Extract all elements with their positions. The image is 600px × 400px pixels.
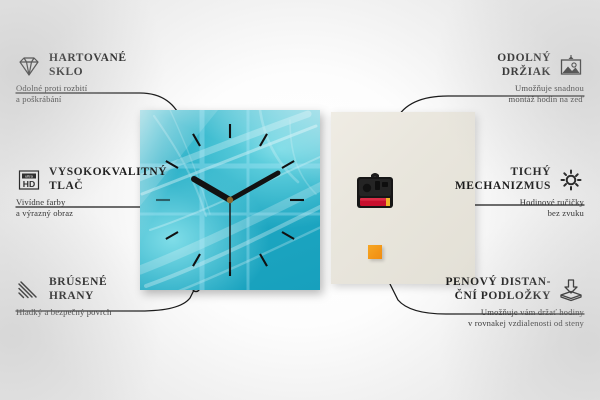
feature-title-2: ČNÍ PODLOŽKY bbox=[445, 290, 551, 304]
feature-desc: Vivídne farby bbox=[16, 197, 191, 208]
feature-brushed-edges: BRÚSENÉ HRANY Hladký a bezpečný povrch bbox=[16, 276, 196, 318]
feature-title-2: TLAČ bbox=[49, 180, 167, 194]
feature-desc-2: bez zvuku bbox=[399, 208, 584, 219]
feature-desc-2: a výrazný obraz bbox=[16, 208, 191, 219]
feature-title-2: HRANY bbox=[49, 290, 107, 304]
feature-desc-2: montáž hodin na zeď bbox=[404, 94, 584, 105]
feature-hd-print: ultra HD VYSOKOKVALITNÝ TLAČ Vivídne far… bbox=[16, 166, 191, 218]
feature-desc-2: a poškrábání bbox=[16, 94, 186, 105]
picture-frame-hanger-icon bbox=[558, 54, 584, 78]
feature-title-2: SKLO bbox=[49, 66, 127, 80]
diamond-icon bbox=[16, 54, 42, 78]
feature-title: PENOVÝ DISTAN- bbox=[445, 276, 551, 290]
feature-title: ODOLNÝ bbox=[497, 52, 551, 66]
foam-spacer-icon bbox=[558, 278, 584, 302]
clock-hands bbox=[194, 173, 278, 272]
hd-label: HD bbox=[23, 179, 35, 189]
product-infographic: HARTOVANÉ SKLO Odolné proti rozbití a po… bbox=[0, 0, 600, 400]
feature-foam-spacers: PENOVÝ DISTAN- ČNÍ PODLOŽKY Umožňuje vám… bbox=[389, 276, 584, 328]
feature-durable-holder: ODOLNÝ DRŽIAK Umožňuje snadnou montáž ho… bbox=[404, 52, 584, 104]
feature-desc: Odolné proti rozbití bbox=[16, 83, 186, 94]
feature-desc: Umožňuje vám držať hodiny bbox=[389, 307, 584, 318]
ultra-hd-icon: ultra HD bbox=[16, 168, 42, 192]
feature-title: HARTOVANÉ bbox=[49, 52, 127, 66]
feature-silent-mechanism: TICHÝ MECHANIZMUS Hodinové ručičky bez z… bbox=[399, 166, 584, 218]
feature-title: TICHÝ bbox=[455, 166, 551, 180]
feature-title: BRÚSENÉ bbox=[49, 276, 107, 290]
feature-title-2: DRŽIAK bbox=[497, 66, 551, 80]
clock-mechanism bbox=[356, 170, 394, 210]
minute-hand bbox=[230, 173, 278, 200]
foam-spacer-pad bbox=[368, 245, 382, 259]
feature-desc: Umožňuje snadnou bbox=[404, 83, 584, 94]
gear-icon bbox=[558, 168, 584, 192]
feature-desc-2: v rovnakej vzdialenosti od steny bbox=[389, 318, 584, 329]
feature-title: VYSOKOKVALITNÝ bbox=[49, 166, 167, 180]
feature-desc: Hodinové ručičky bbox=[399, 197, 584, 208]
feature-title-2: MECHANIZMUS bbox=[455, 180, 551, 194]
brushed-edges-icon bbox=[16, 278, 42, 302]
ultra-label: ultra bbox=[25, 173, 34, 178]
clock-center-cap bbox=[227, 197, 233, 203]
feature-hardened-glass: HARTOVANÉ SKLO Odolné proti rozbití a po… bbox=[16, 52, 186, 104]
feature-desc: Hladký a bezpečný povrch bbox=[16, 307, 196, 318]
